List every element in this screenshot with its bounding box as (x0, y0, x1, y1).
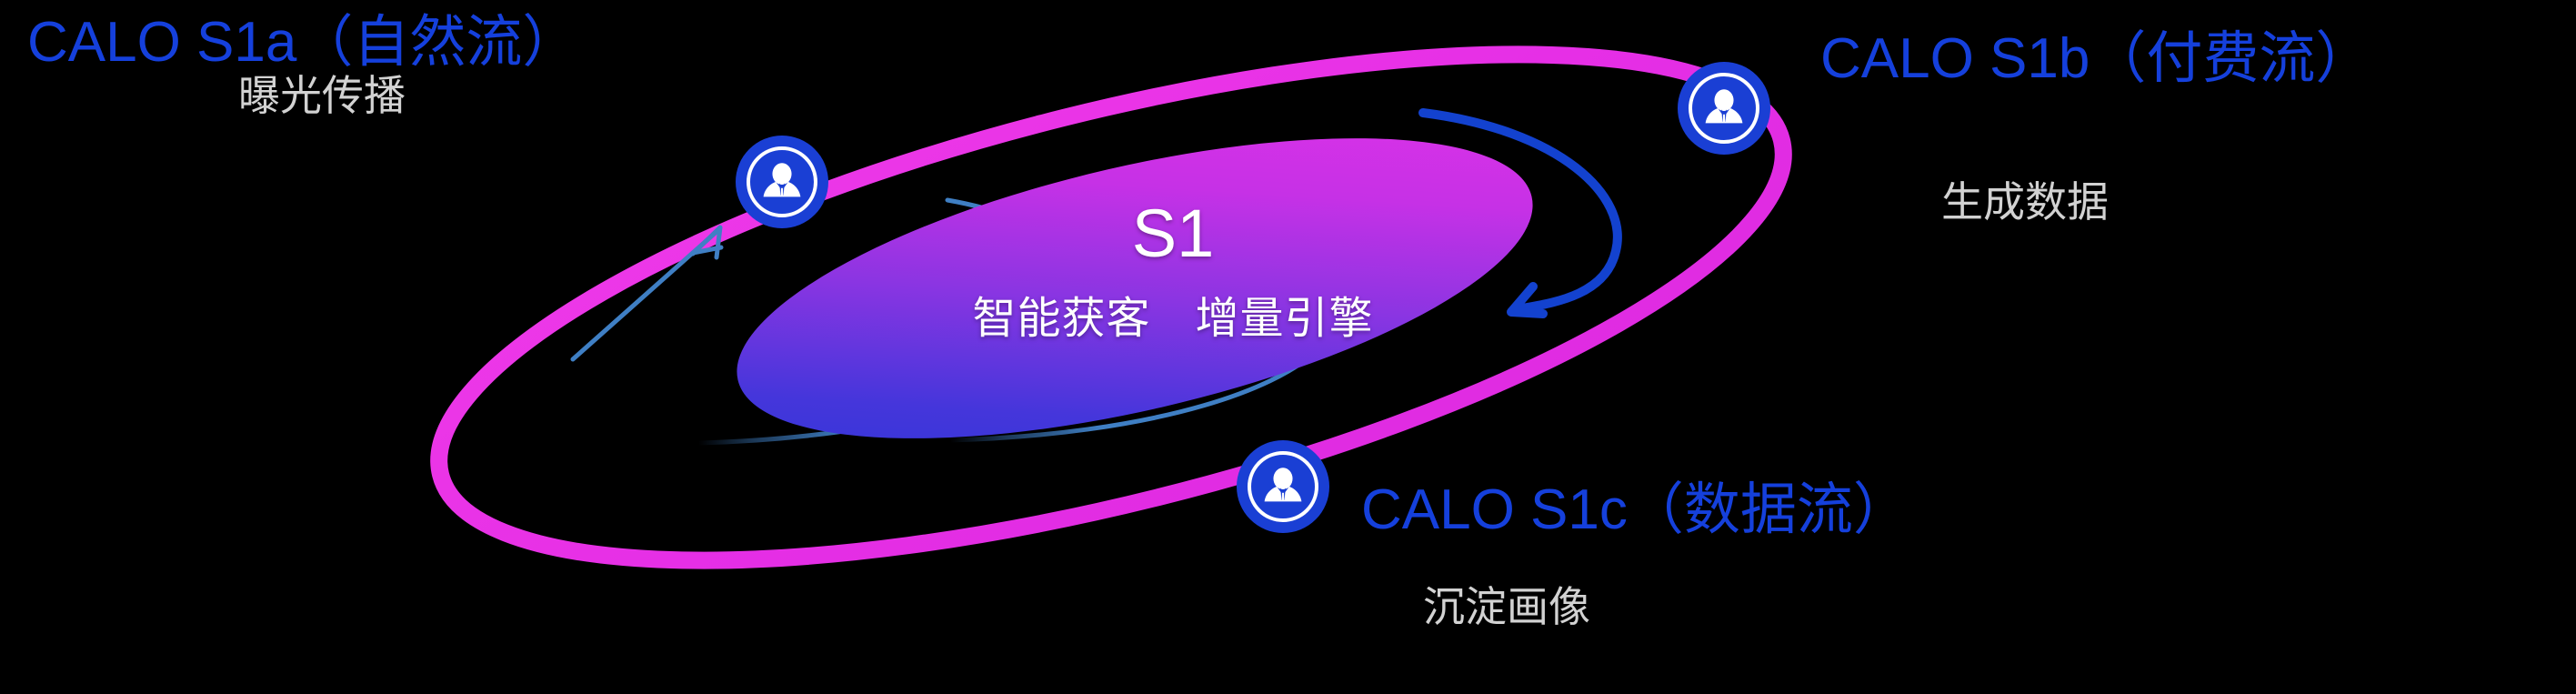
diagram-canvas: S1 智能获客 增量引擎 CALO S1a（自然流） 曝光传播 CALO S1b… (0, 0, 2576, 694)
stream-s1a-subtitle: 曝光传播 (238, 75, 406, 116)
stream-s1c-subtitle: 沉淀画像 (1423, 586, 1590, 628)
node-s1c[interactable] (1237, 440, 1329, 533)
stream-s1c-title: CALO S1c（数据流） (1361, 482, 1909, 538)
stream-s1a-title: CALO S1a（自然流） (27, 15, 578, 71)
stream-s1b-subtitle: 生成数据 (1941, 181, 2109, 223)
node-s1a[interactable] (736, 136, 828, 228)
stream-s1b-title: CALO S1b（付费流） (1820, 31, 2371, 87)
node-s1b[interactable] (1678, 62, 1770, 155)
